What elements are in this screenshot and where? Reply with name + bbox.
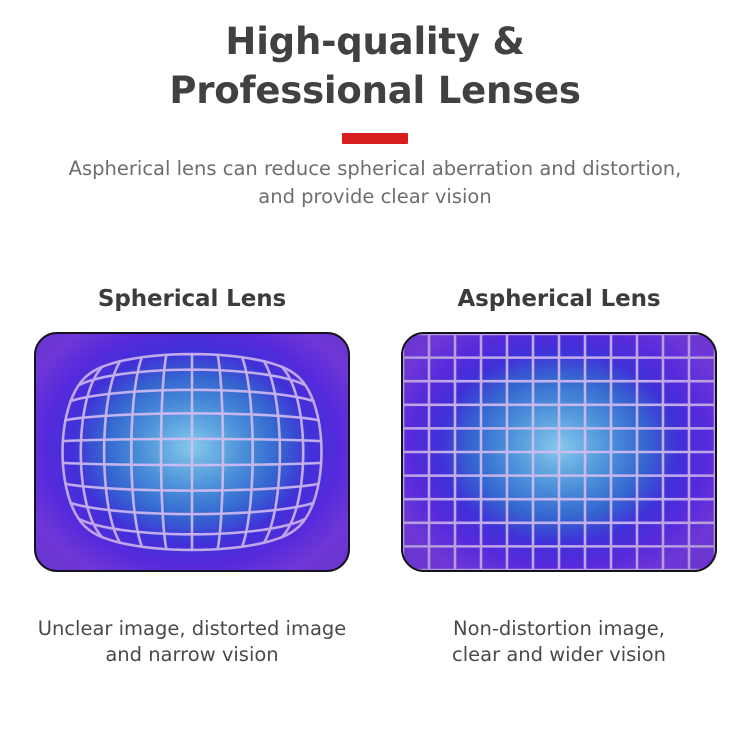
page-title: High-quality & Professional Lenses bbox=[0, 18, 750, 116]
aspherical-lens-heading: Aspherical Lens bbox=[389, 286, 729, 312]
aspherical-lens-caption-line-1: Non-distortion image, bbox=[389, 616, 729, 642]
spherical-lens-image bbox=[34, 332, 350, 572]
spherical-lens-caption: Unclear image, distorted image and narro… bbox=[22, 616, 362, 667]
title-accent-rule bbox=[342, 133, 408, 144]
page-subtitle-line-2: and provide clear vision bbox=[0, 183, 750, 211]
aspherical-lens-grid bbox=[403, 334, 715, 570]
page-title-line-2: Professional Lenses bbox=[0, 67, 750, 116]
spherical-lens-column: Spherical Lens Unclear image, distorted … bbox=[22, 286, 362, 667]
page-title-line-1: High-quality & bbox=[0, 18, 750, 67]
spherical-lens-grid bbox=[36, 334, 348, 570]
aspherical-lens-grid-svg bbox=[403, 334, 715, 570]
page-header: High-quality & Professional Lenses bbox=[0, 18, 750, 144]
spherical-lens-grid-svg bbox=[36, 334, 348, 570]
lens-comparison-section: Spherical Lens Unclear image, distorted … bbox=[0, 286, 750, 726]
aspherical-lens-column: Aspherical Lens Non-distortion image, cl… bbox=[389, 286, 729, 667]
spherical-lens-caption-line-1: Unclear image, distorted image bbox=[22, 616, 362, 642]
aspherical-lens-caption-line-2: clear and wider vision bbox=[389, 642, 729, 668]
page-subtitle-line-1: Aspherical lens can reduce spherical abe… bbox=[0, 155, 750, 183]
aspherical-lens-caption: Non-distortion image, clear and wider vi… bbox=[389, 616, 729, 667]
spherical-lens-heading: Spherical Lens bbox=[22, 286, 362, 312]
spherical-lens-caption-line-2: and narrow vision bbox=[22, 642, 362, 668]
lens-comparison-page: High-quality & Professional Lenses Asphe… bbox=[0, 0, 750, 750]
aspherical-lens-image bbox=[401, 332, 717, 572]
page-subtitle: Aspherical lens can reduce spherical abe… bbox=[0, 155, 750, 212]
